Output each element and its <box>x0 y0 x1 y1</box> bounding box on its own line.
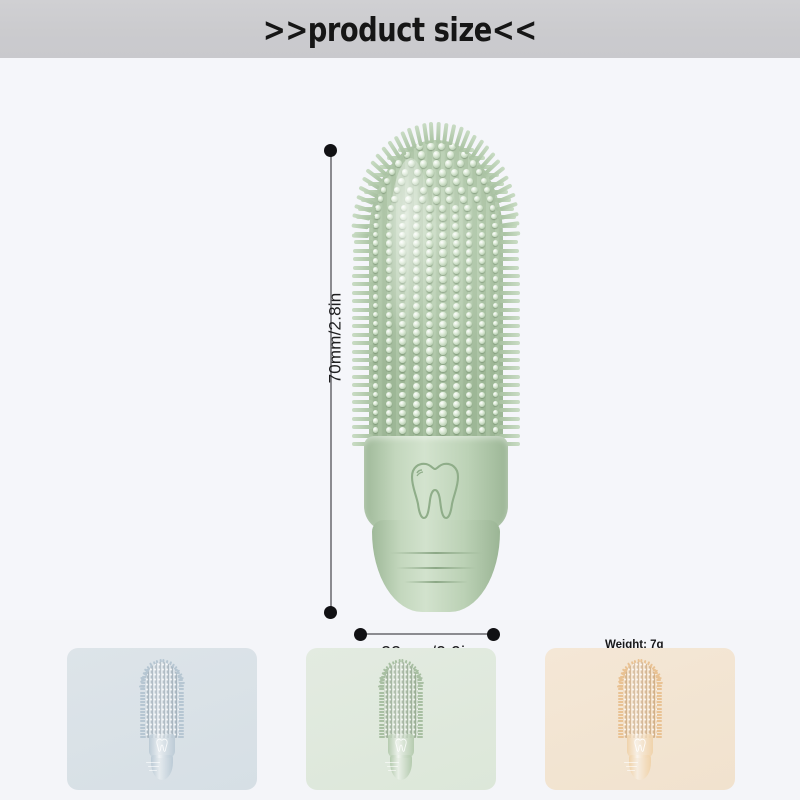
side-bristle <box>499 408 520 412</box>
bristle-nub <box>453 285 460 292</box>
bristle-nub <box>453 312 460 319</box>
bristle-nub <box>373 249 379 255</box>
bristle-nub <box>426 418 433 425</box>
bristle-nub <box>413 365 420 372</box>
bristle-nub <box>399 383 406 390</box>
thumb-side-bristle <box>178 736 184 738</box>
bristle-nub <box>452 223 459 230</box>
bristle-nub <box>453 258 460 265</box>
bristle-nub <box>373 321 379 327</box>
bristle-nub <box>479 401 485 407</box>
bristle-nub <box>493 258 499 264</box>
bristle-nub <box>479 232 485 238</box>
bristle-nub <box>399 392 406 399</box>
side-bristle <box>499 266 519 270</box>
side-bristle <box>352 350 373 354</box>
side-bristle <box>352 408 373 412</box>
bristle-nub <box>386 383 392 389</box>
side-bristle <box>352 417 373 421</box>
bristle-nub <box>439 410 446 417</box>
bristle-nub <box>493 365 499 371</box>
bristle-nub <box>426 392 433 399</box>
bristle-nub <box>466 329 473 336</box>
thumb-handle-body <box>629 755 651 780</box>
bristle-nub <box>467 178 474 185</box>
tooth-icon <box>394 738 408 753</box>
bristle-nub <box>439 214 446 221</box>
side-bristle <box>352 383 373 387</box>
side-bristle <box>352 366 373 370</box>
side-bristle <box>353 266 373 270</box>
bristle-nub <box>492 223 498 229</box>
bristle-nub <box>375 205 381 211</box>
bristle-nub <box>452 232 459 239</box>
bristle-nub <box>426 374 433 381</box>
bristle-nub <box>399 418 406 425</box>
bristle-nub <box>493 392 499 398</box>
bristle-nub <box>386 401 392 407</box>
bristle-nub <box>493 249 499 255</box>
bristle-nub <box>466 374 473 381</box>
bristle-nub <box>399 374 406 381</box>
thumb-handle-body <box>390 755 412 780</box>
thumb-grip-line <box>627 770 635 771</box>
bristle-nub <box>386 365 392 371</box>
bristle-nub <box>373 365 379 371</box>
bristle-nub <box>466 410 473 417</box>
handle-body <box>372 520 500 612</box>
bristle-nub <box>426 178 433 185</box>
side-bristle <box>352 308 373 312</box>
bristle-nub <box>439 321 446 328</box>
bristle-nub <box>493 347 499 353</box>
bristle-nub <box>481 178 487 184</box>
bristle-nub <box>426 410 433 417</box>
thumb-top-bristle <box>656 681 662 684</box>
thumb-head-nubs <box>384 662 418 738</box>
bristle-nub <box>426 347 433 354</box>
bristle-nub <box>453 383 460 390</box>
bristle-nub <box>381 187 387 193</box>
bristle-nub <box>479 267 485 273</box>
bristle-nub <box>373 383 379 389</box>
bristle-nub <box>426 338 433 345</box>
bristle-nub <box>420 160 427 167</box>
handle-grip-line <box>396 567 476 569</box>
tooth-icon <box>155 738 169 753</box>
height-endpoint-bottom-dot <box>324 606 337 619</box>
side-bristle <box>499 425 520 429</box>
bristle-nub <box>453 294 460 301</box>
bristle-nub <box>466 356 473 363</box>
thumb-grip-line <box>149 770 157 771</box>
side-bristle <box>352 425 373 429</box>
brush-head-highlight <box>388 158 434 349</box>
bristle-nub <box>479 356 485 362</box>
bristle-nub <box>413 401 420 408</box>
bristle-nub <box>479 249 485 255</box>
bristle-nub <box>426 329 433 336</box>
thumb-brush-head <box>145 662 179 738</box>
bristle-nub <box>373 232 379 238</box>
bristle-nub <box>386 392 392 398</box>
bristle-nub <box>373 374 379 380</box>
side-bristle <box>353 249 373 253</box>
bristle-nub <box>479 329 485 335</box>
bristle-nub <box>493 401 499 407</box>
thumb-grip-line <box>388 770 396 771</box>
side-bristle <box>499 366 520 370</box>
side-bristle <box>352 274 373 278</box>
bristle-nub <box>451 169 458 176</box>
bristle-nub <box>493 383 499 389</box>
thumb-top-bristle <box>417 681 423 684</box>
bristle-nub <box>373 410 379 416</box>
bristle-nub <box>373 338 379 344</box>
bristle-nub <box>373 418 379 424</box>
bristle-nub <box>493 276 499 282</box>
bristle-nub <box>413 347 420 354</box>
bristle-nub <box>466 392 473 399</box>
bristle-nub <box>453 240 460 247</box>
bristle-nub <box>386 321 392 327</box>
top-bristle <box>429 122 434 143</box>
bristle-nub <box>460 196 467 203</box>
bristle-nub <box>445 160 452 167</box>
bristle-nub <box>478 214 484 220</box>
bristle-nub <box>384 178 390 184</box>
bristle-nub <box>493 338 499 344</box>
bristle-nub <box>439 249 446 256</box>
bristle-nub <box>446 196 453 203</box>
bristle-nub <box>439 338 446 345</box>
side-bristle <box>352 358 373 362</box>
bristle-nub <box>373 294 379 300</box>
bristle-nub <box>479 365 485 371</box>
side-bristle <box>499 249 519 253</box>
bristle-nub <box>479 374 485 380</box>
side-bristle <box>499 274 520 278</box>
bristle-nub <box>458 187 465 194</box>
thumb-head-nubs <box>145 662 179 738</box>
bristle-nub <box>466 418 473 425</box>
top-bristle <box>352 233 369 238</box>
bristle-nub <box>466 294 473 301</box>
bristle-nub <box>465 214 472 221</box>
bristle-nub <box>453 178 460 185</box>
bristle-nub <box>439 294 446 301</box>
bristle-nub <box>453 303 460 310</box>
bristle-nub <box>374 214 380 220</box>
bristle-nub <box>493 410 499 416</box>
side-bristle <box>499 358 520 362</box>
bristle-nub <box>386 418 392 424</box>
bristle-nub <box>418 151 425 158</box>
bristle-nub <box>493 240 499 246</box>
bristle-nub <box>426 169 433 176</box>
bristle-nub <box>426 401 433 408</box>
tooth-icon <box>633 738 647 753</box>
variant-card-green[interactable] <box>306 648 496 790</box>
bristle-nub <box>386 410 392 416</box>
bristle-nub <box>439 267 446 274</box>
bristle-nub <box>466 383 473 390</box>
bristle-nub <box>413 427 420 434</box>
bristle-nub <box>453 365 460 372</box>
bristle-nub <box>386 312 392 318</box>
bristle-nub <box>493 374 499 380</box>
bristle-nub <box>466 338 473 345</box>
bristle-nub <box>439 276 446 283</box>
bristle-nub <box>453 267 460 274</box>
bristle-nub <box>386 329 392 335</box>
bristle-nub <box>457 160 464 167</box>
bristle-nub <box>413 383 420 390</box>
side-bristle <box>352 333 373 337</box>
side-bristle <box>499 383 520 387</box>
variant-card-orange[interactable] <box>545 648 735 790</box>
side-bristle <box>352 324 373 328</box>
bristle-nub <box>464 205 471 212</box>
thumb-brush-head <box>384 662 418 738</box>
bristle-nub <box>426 427 433 434</box>
bristle-nub <box>386 347 392 353</box>
bristle-nub <box>452 214 459 221</box>
bristle-nub <box>439 285 446 292</box>
side-bristle <box>499 324 520 328</box>
bristle-nub <box>493 267 499 273</box>
bristle-nub <box>453 427 460 434</box>
bristle-nub <box>491 214 497 220</box>
side-bristle <box>499 240 518 244</box>
side-bristle <box>499 400 520 404</box>
bristle-nub <box>490 205 496 211</box>
bristle-nub <box>479 392 485 398</box>
side-bristle <box>352 316 373 320</box>
bristle-nub <box>479 285 485 291</box>
bristle-nub <box>453 276 460 283</box>
bristle-nub <box>493 329 499 335</box>
bristle-nub <box>453 410 460 417</box>
thumb-grip-line <box>624 762 638 763</box>
brush-head <box>369 140 503 448</box>
bristle-nub <box>479 338 485 344</box>
thumb-grip-line <box>385 762 399 763</box>
side-bristle <box>499 316 520 320</box>
bristle-nub <box>399 410 406 417</box>
bristle-nub <box>373 285 379 291</box>
bristle-nub <box>373 427 379 433</box>
bristle-nub <box>439 329 446 336</box>
thumb-grip-line <box>387 766 398 767</box>
side-bristle <box>499 392 520 396</box>
product-thumbnail-orange <box>618 662 662 780</box>
bristle-nub <box>389 169 395 175</box>
bristle-nub <box>453 374 460 381</box>
bristle-nub <box>466 303 473 310</box>
side-bristle <box>352 375 373 379</box>
bristle-nub <box>479 303 485 309</box>
bristle-nub <box>439 418 446 425</box>
bristle-nub <box>413 374 420 381</box>
page-title: >>product size<< <box>263 10 537 49</box>
thumb-head-nubs <box>623 662 657 738</box>
bristle-nub <box>477 205 483 211</box>
bristle-nub <box>476 169 482 175</box>
bristle-nub <box>373 356 379 362</box>
thumb-top-bristle <box>178 681 184 684</box>
height-dimension-label: 70mm/2.8in <box>325 293 345 384</box>
bristle-nub <box>466 347 473 354</box>
bristle-nub <box>439 178 446 185</box>
bristle-nub <box>439 258 446 265</box>
bristle-nub <box>426 383 433 390</box>
thumb-handle-body <box>151 755 173 780</box>
side-bristle <box>499 375 520 379</box>
bristle-nub <box>479 321 485 327</box>
bristle-nub <box>493 285 499 291</box>
bristle-nub <box>433 160 441 168</box>
bristle-nub <box>466 267 473 274</box>
bristle-nub <box>433 151 441 159</box>
bristle-nub <box>466 401 473 408</box>
bristle-nub <box>447 151 454 158</box>
side-bristle <box>352 291 373 295</box>
bristle-nub <box>426 321 433 328</box>
tooth-icon <box>404 460 466 524</box>
bristle-nub <box>373 312 379 318</box>
bristle-nub <box>466 427 473 434</box>
bristle-nub <box>413 392 420 399</box>
bristle-nub <box>479 223 485 229</box>
bristle-nub <box>439 303 446 310</box>
bristle-nub <box>466 312 473 319</box>
bristle-nub <box>453 329 460 336</box>
product-size-stage: 70mm/2.8in 22mm/0.9in Weight: 7g <box>0 58 800 620</box>
bristle-nub <box>479 410 485 416</box>
bristle-nub <box>399 365 406 372</box>
side-bristle <box>499 282 520 286</box>
side-bristle <box>499 333 520 337</box>
bristle-nub <box>373 329 379 335</box>
bristle-nub <box>399 356 406 363</box>
side-bristle <box>499 350 520 354</box>
bristle-nub <box>439 205 446 212</box>
bristle-nub <box>493 303 499 309</box>
bristle-nub <box>439 223 446 230</box>
bristle-nub <box>439 365 446 372</box>
bristle-nub <box>439 427 446 434</box>
bristle-nub <box>471 187 477 193</box>
top-bristle <box>354 204 373 213</box>
bristle-nub <box>463 169 470 176</box>
bristle-nub <box>439 392 446 399</box>
bristle-nub <box>479 427 485 433</box>
bristle-nub <box>433 187 441 195</box>
side-bristle <box>353 257 373 261</box>
side-bristle <box>352 400 373 404</box>
handle-grip-line <box>404 581 468 583</box>
side-bristle <box>499 308 520 312</box>
bristle-nub <box>413 356 420 363</box>
bristle-nub <box>466 232 473 239</box>
side-bristle <box>352 341 373 345</box>
bristle-nub <box>466 249 473 256</box>
bristle-nub <box>466 223 473 230</box>
bristle-nub <box>453 347 460 354</box>
bristle-nub <box>373 303 379 309</box>
thumb-side-bristle <box>656 736 662 738</box>
bristle-nub <box>479 347 485 353</box>
bristle-nub <box>453 401 460 408</box>
bristle-nub <box>453 356 460 363</box>
side-bristle <box>499 341 520 345</box>
bristle-nub <box>474 196 480 202</box>
bristle-nub <box>373 223 379 229</box>
bristle-nub <box>386 427 392 433</box>
bristle-nub <box>466 240 473 247</box>
bristle-nub <box>445 187 452 194</box>
bristle-nub <box>487 196 493 202</box>
bristle-nub <box>453 321 460 328</box>
bristle-nub <box>493 356 499 362</box>
bristle-nub <box>399 427 406 434</box>
bristle-nub <box>439 312 446 319</box>
bristle-nub <box>453 392 460 399</box>
bristle-nub <box>373 267 379 273</box>
bristle-nub <box>453 338 460 345</box>
bristle-nub <box>386 374 392 380</box>
bristle-nub <box>453 249 460 256</box>
bristle-nub <box>493 427 499 433</box>
bristle-nub <box>466 258 473 265</box>
bristle-nub <box>439 347 446 354</box>
bristle-nub <box>373 401 379 407</box>
bristle-nub <box>484 187 490 193</box>
bristle-nub <box>439 169 446 176</box>
bristle-nub <box>439 401 446 408</box>
side-bristle <box>352 299 373 303</box>
bristle-nub <box>373 392 379 398</box>
bristle-nub <box>439 356 446 363</box>
height-endpoint-top-dot <box>324 144 337 157</box>
product-image-main <box>360 140 512 610</box>
bristle-nub <box>439 232 446 239</box>
bristle-nub <box>493 321 499 327</box>
bristle-nub <box>386 356 392 362</box>
bristle-nub <box>493 418 499 424</box>
bristle-nub <box>479 418 485 424</box>
bristle-nub <box>479 240 485 246</box>
bristle-nub <box>479 383 485 389</box>
side-bristle <box>352 392 373 396</box>
variant-card-blue[interactable] <box>67 648 257 790</box>
bristle-nub <box>373 276 379 282</box>
bristle-nub <box>427 143 435 151</box>
side-bristle <box>499 299 520 303</box>
bristle-nub <box>453 418 460 425</box>
bristle-nub <box>479 312 485 318</box>
bristle-nub <box>479 258 485 264</box>
bristle-nub <box>439 374 446 381</box>
product-thumbnail-blue <box>140 662 184 780</box>
page-header: >>product size<< <box>0 0 800 58</box>
thumb-grip-line <box>148 766 159 767</box>
bristle-nub <box>466 365 473 372</box>
thumb-brush-head <box>623 662 657 738</box>
bristle-nub <box>413 418 420 425</box>
bristle-nub <box>439 240 446 247</box>
